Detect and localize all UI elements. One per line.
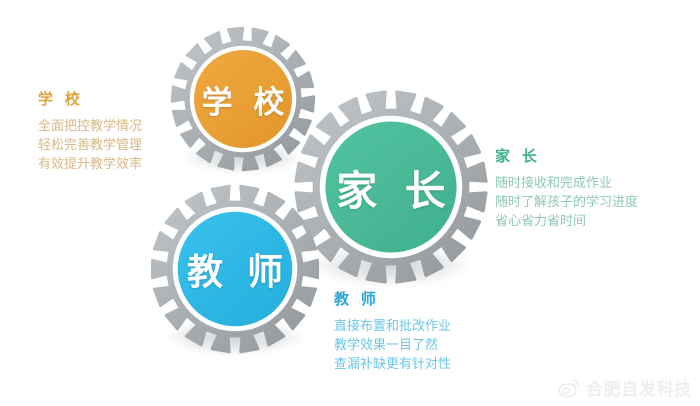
info-line: 直接布置和批改作业 bbox=[334, 318, 451, 337]
info-block-parent: 家 长随时接收和完成作业随时了解孩子的学习进度省心省力省时间 bbox=[495, 145, 638, 232]
info-line: 全面把控教学情况 bbox=[38, 118, 142, 137]
info-title-school: 学 校 bbox=[38, 88, 142, 109]
info-line: 省心省力省时间 bbox=[495, 213, 638, 232]
info-line: 有效提升教学效率 bbox=[38, 156, 142, 175]
infographic-canvas: 学 校家 长教 师 学 校全面把控教学情况轻松完善教学管理有效提升教学效率家 长… bbox=[0, 0, 700, 406]
info-body-teacher: 直接布置和批改作业教学效果一目了然查漏补缺更有针对性 bbox=[334, 318, 451, 375]
gear-graphic-teacher bbox=[152, 186, 318, 352]
gear-teacher[interactable]: 教 师 bbox=[152, 186, 318, 352]
info-line: 随时了解孩子的学习进度 bbox=[495, 194, 638, 213]
weibo-icon bbox=[558, 378, 580, 398]
info-body-school: 全面把控教学情况轻松完善教学管理有效提升教学效率 bbox=[38, 118, 142, 175]
watermark-text: 合肥自发科技 bbox=[586, 375, 692, 400]
info-body-parent: 随时接收和完成作业随时了解孩子的学习进度省心省力省时间 bbox=[495, 175, 638, 232]
info-block-teacher: 教 师直接布置和批改作业教学效果一目了然查漏补缺更有针对性 bbox=[334, 288, 451, 375]
info-block-school: 学 校全面把控教学情况轻松完善教学管理有效提升教学效率 bbox=[38, 88, 142, 175]
gear-parent[interactable]: 家 长 bbox=[296, 92, 486, 282]
info-line: 轻松完善教学管理 bbox=[38, 137, 142, 156]
watermark: 合肥自发科技 bbox=[558, 375, 692, 400]
info-title-teacher: 教 师 bbox=[334, 288, 451, 309]
gear-graphic-school bbox=[172, 28, 314, 170]
info-title-parent: 家 长 bbox=[495, 145, 638, 166]
gear-graphic-parent bbox=[296, 92, 486, 282]
info-line: 查漏补缺更有针对性 bbox=[334, 356, 451, 375]
gear-school[interactable]: 学 校 bbox=[172, 28, 314, 170]
info-line: 教学效果一目了然 bbox=[334, 337, 451, 356]
info-line: 随时接收和完成作业 bbox=[495, 175, 638, 194]
